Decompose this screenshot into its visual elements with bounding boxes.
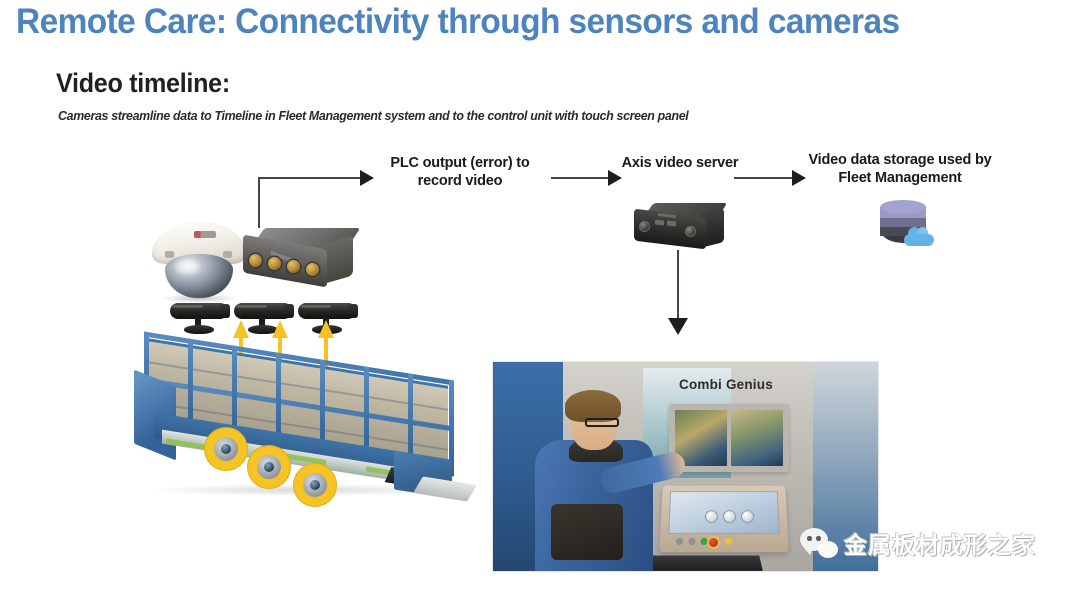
encoder-bnc-connector — [268, 257, 281, 270]
wechat-bubble-small — [818, 541, 838, 558]
yellow-arrow-head — [233, 320, 249, 338]
hmi-button-row — [676, 538, 732, 545]
page-title: Remote Care: Connectivity through sensor… — [16, 2, 1024, 42]
hmi-button-reset — [725, 538, 732, 545]
camera-position-marker — [205, 428, 247, 470]
section-heading: Video timeline: — [56, 68, 230, 99]
encoder-bnc-connector — [249, 254, 262, 267]
camera-marker-lens — [221, 444, 231, 454]
flow-label-plc: PLC output (error) to record video — [372, 155, 548, 190]
encoder-bnc-connector — [287, 260, 300, 273]
camera-position-marker — [248, 446, 290, 488]
cloud-base — [904, 234, 934, 246]
server-port-slot — [655, 219, 664, 225]
dome-camera-shadow — [160, 294, 238, 303]
hmi-button — [676, 538, 683, 545]
yellow-arrow-head — [318, 320, 334, 338]
bullet-camera-mount-base — [184, 325, 214, 334]
elbow-arrow-vertical-segment — [258, 178, 260, 228]
camera-position-marker — [294, 464, 336, 506]
operator-glasses — [585, 418, 619, 427]
video-encoder-icon — [243, 228, 355, 290]
flow-label-video-data-storage: Video data storage used by Fleet Managem… — [800, 152, 1000, 187]
operator-apron — [551, 504, 623, 560]
bullet-camera-icon — [170, 303, 236, 337]
wechat-dot — [807, 536, 812, 541]
machine-brand-label: Combi Genius — [679, 377, 773, 392]
cloud-icon — [904, 226, 934, 246]
yellow-arrow-head — [272, 320, 288, 338]
arrow-plc-to-axis-line — [551, 177, 611, 179]
database-cloud-icon — [876, 198, 936, 252]
camera-monitor-view — [731, 410, 783, 466]
bullet-camera-body — [298, 303, 354, 319]
dome-camera-vent-right — [223, 251, 232, 258]
server-port-slot — [667, 220, 676, 226]
server-coax-port — [639, 221, 650, 232]
hmi-button — [688, 538, 695, 545]
touch-screen-panel — [659, 486, 789, 553]
dome-camera-brand-mark — [194, 231, 216, 238]
dome-camera-icon — [152, 222, 246, 300]
encoder-bnc-connector — [306, 263, 319, 276]
bullet-camera-body — [234, 303, 290, 319]
watermark: 金属板材成形之家 — [800, 526, 1036, 560]
dome-camera-lens-bubble — [165, 254, 233, 298]
database-top — [880, 200, 926, 214]
arrow-axis-to-photo-line — [677, 250, 679, 322]
elbow-arrow-horizontal-segment — [258, 177, 362, 179]
wechat-dot — [816, 536, 821, 541]
camera-monitor — [669, 404, 789, 472]
bullet-camera-body — [170, 303, 226, 319]
slide-root: Remote Care: Connectivity through sensor… — [0, 0, 1080, 593]
dome-camera-vent-left — [165, 251, 174, 258]
wechat-logo-icon — [800, 528, 838, 558]
arrow-axis-to-storage-line — [734, 177, 796, 179]
arrow-head-down-icon — [668, 318, 688, 335]
photo-operator — [529, 396, 659, 572]
section-subtitle: Cameras streamline data to Timeline in F… — [58, 108, 688, 123]
hmi-gauge — [741, 510, 754, 523]
server-coax-port — [685, 226, 696, 237]
video-server-icon — [634, 203, 726, 253]
hmi-gauge — [705, 510, 718, 523]
watermark-text: 金属板材成形之家 — [844, 526, 1036, 560]
camera-marker-lens — [310, 480, 320, 490]
hmi-gauge — [723, 510, 736, 523]
camera-marker-lens — [264, 462, 274, 472]
emergency-stop-button — [707, 536, 720, 549]
flow-label-axis-video-server: Axis video server — [616, 155, 744, 173]
